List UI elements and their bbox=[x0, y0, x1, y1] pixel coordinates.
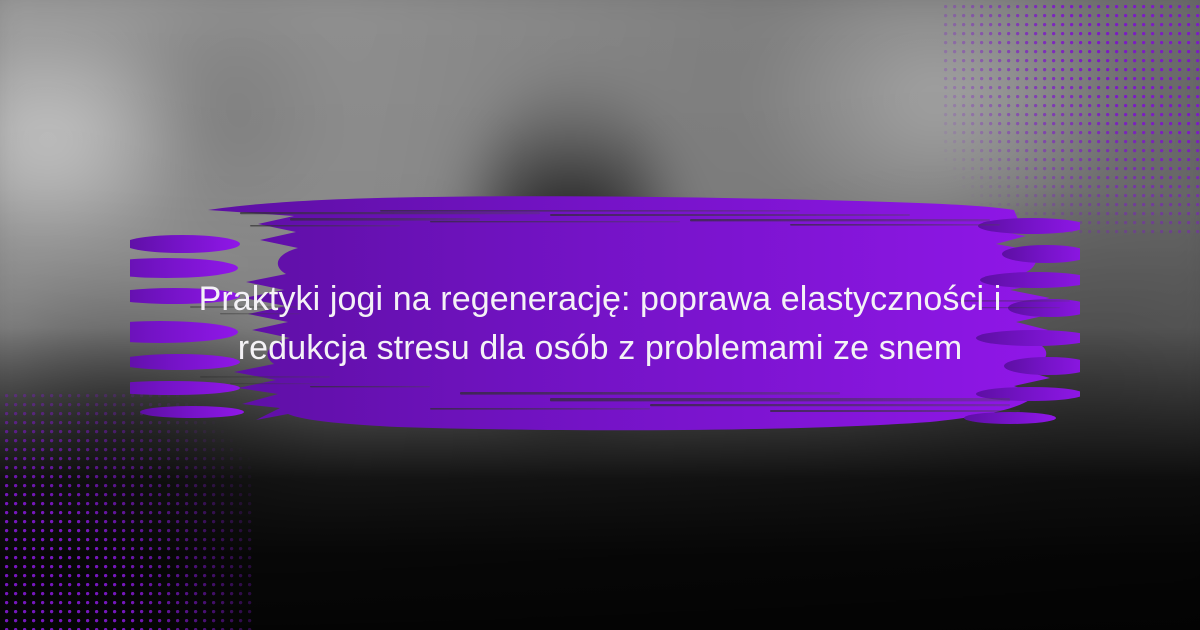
page-title: Praktyki jogi na regenerację: poprawa el… bbox=[170, 275, 1030, 373]
social-share-card: Praktyki jogi na regenerację: poprawa el… bbox=[0, 0, 1200, 630]
